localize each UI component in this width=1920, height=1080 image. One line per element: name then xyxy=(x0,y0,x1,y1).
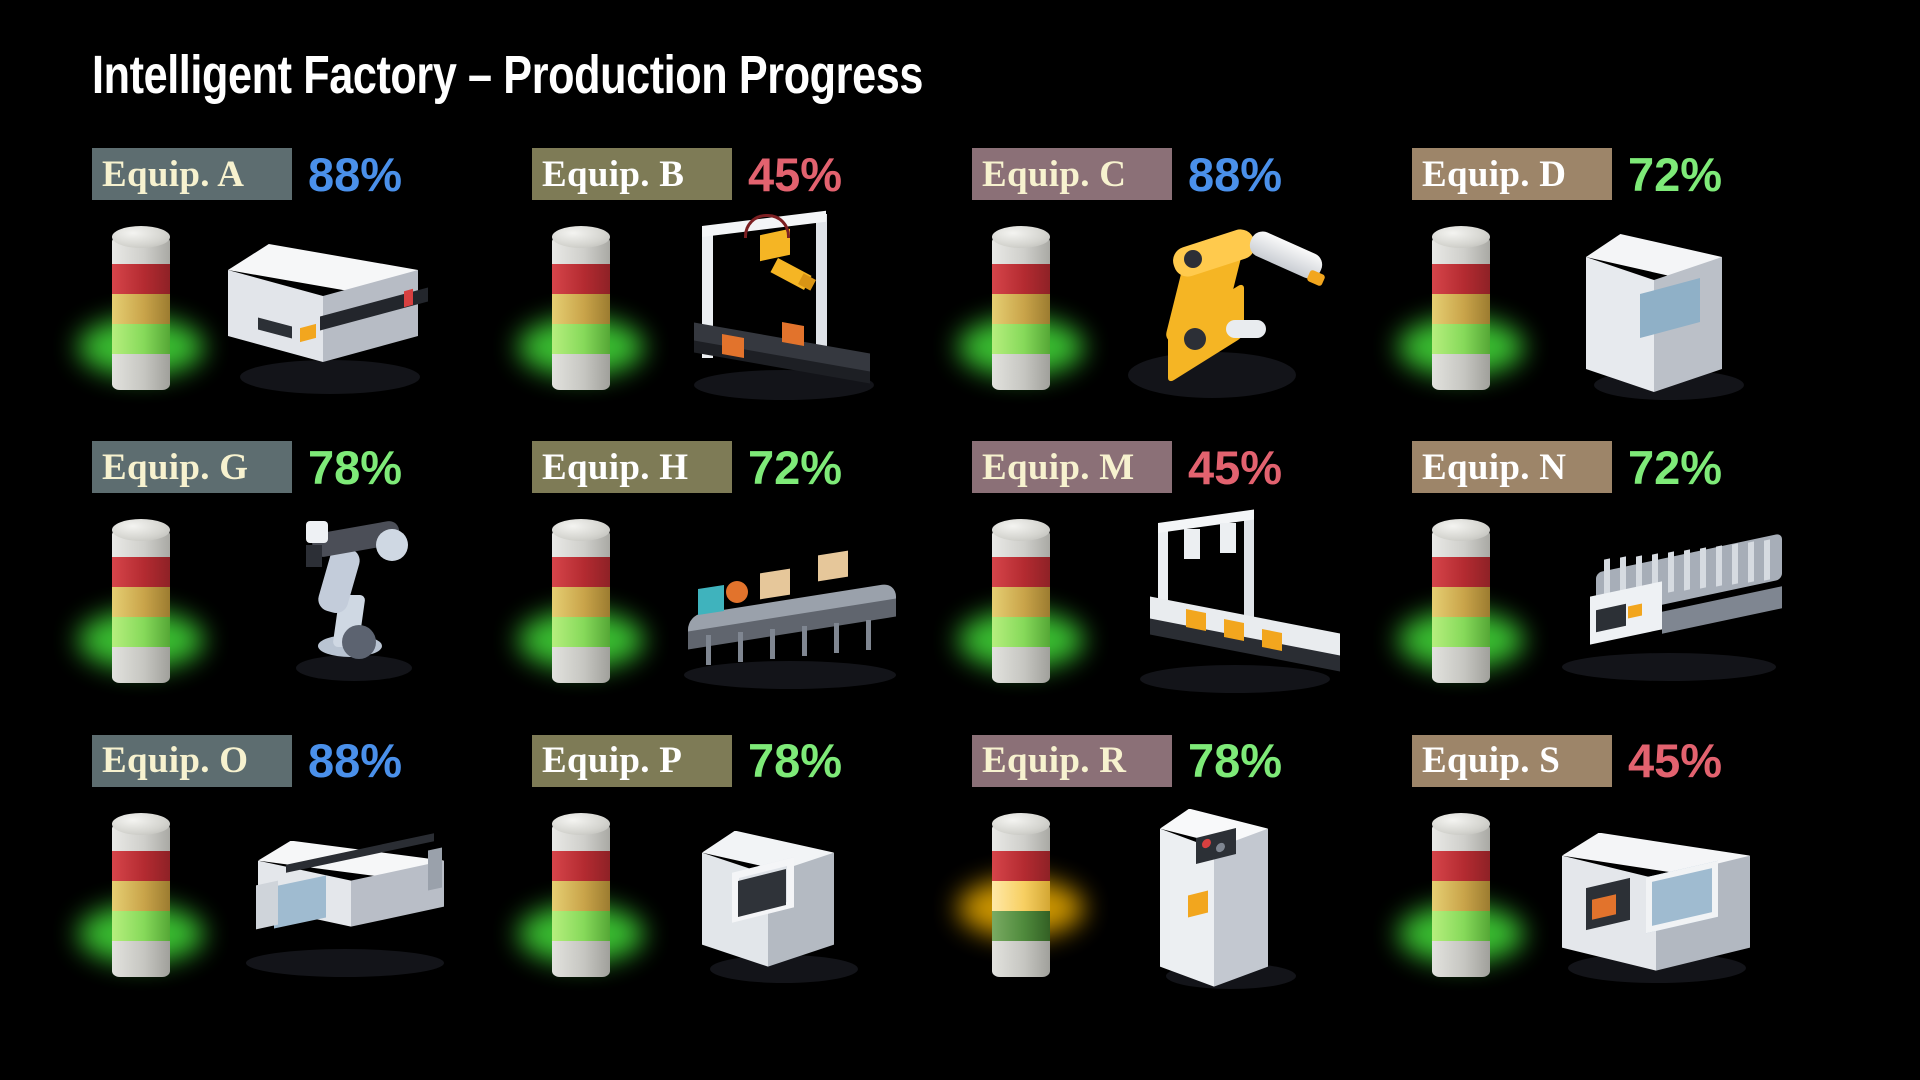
arm-joint xyxy=(376,529,408,561)
stack-light-segment-amber xyxy=(1432,587,1490,617)
equipment-card-equip-b[interactable]: Equip. B45% xyxy=(532,148,972,441)
stack-light-segment-green xyxy=(992,324,1050,354)
roller xyxy=(1764,540,1770,581)
stack-light-segment-red xyxy=(112,264,170,294)
equipment-illustration xyxy=(1412,210,1852,420)
machine-icon-gantry-pick-place xyxy=(640,210,920,416)
equipment-illustration xyxy=(972,210,1412,420)
progress-percent: 45% xyxy=(1628,737,1722,784)
stack-light-tower-icon xyxy=(984,226,1058,398)
card-header: Equip. C88% xyxy=(972,148,1412,200)
machine-shadow xyxy=(1128,352,1296,398)
stack-light-segment-red xyxy=(1432,851,1490,881)
equipment-illustration xyxy=(532,797,972,1007)
actuator-end-cap xyxy=(256,880,278,929)
conveyor-leg xyxy=(834,623,839,653)
box-carton-2 xyxy=(818,551,848,582)
card-header: Equip. A88% xyxy=(92,148,532,200)
stack-light-segment-red xyxy=(112,557,170,587)
stack-light-body xyxy=(1432,236,1490,390)
machine-icon-gantry-conveyor xyxy=(1080,503,1360,709)
equipment-card-equip-s[interactable]: Equip. S45% xyxy=(1412,735,1852,1028)
machine-shadow xyxy=(684,661,896,689)
equipment-name-band[interactable]: Equip. D xyxy=(1412,148,1612,200)
stack-light-segment-amber xyxy=(112,587,170,617)
stack-light-tower-icon xyxy=(104,226,178,398)
stack-light-tower-icon xyxy=(1424,226,1498,398)
stack-light-segment-base xyxy=(1432,941,1490,977)
stack-light-cap xyxy=(112,813,170,835)
stack-light-segment-base xyxy=(1432,354,1490,390)
stack-light-segment-red xyxy=(992,264,1050,294)
roller xyxy=(1684,549,1690,590)
progress-percent: 45% xyxy=(1188,444,1282,491)
stack-light-segment-green xyxy=(112,324,170,354)
stack-light-segment-red xyxy=(552,264,610,294)
stack-light-segment-red xyxy=(1432,557,1490,587)
stack-light-body xyxy=(992,236,1050,390)
stack-light-segment-green xyxy=(552,324,610,354)
progress-percent: 78% xyxy=(1188,737,1282,784)
conveyor-leg xyxy=(866,620,871,650)
equipment-name-band[interactable]: Equip. C xyxy=(972,148,1172,200)
equipment-card-equip-c[interactable]: Equip. C88% xyxy=(972,148,1412,441)
conveyor-leg xyxy=(706,635,711,665)
stack-light-tower-icon xyxy=(104,519,178,691)
machine-icon-robot-arm xyxy=(1080,210,1360,416)
equipment-card-equip-p[interactable]: Equip. P78% xyxy=(532,735,972,1028)
card-header: Equip. S45% xyxy=(1412,735,1852,787)
conveyor-leg xyxy=(738,632,743,662)
stack-light-segment-base xyxy=(552,941,610,977)
stack-light-cap xyxy=(1432,226,1490,248)
stack-light-segment-red xyxy=(112,851,170,881)
equipment-illustration xyxy=(972,503,1412,713)
equipment-illustration xyxy=(92,503,532,713)
machine-icon-linear-actuator xyxy=(200,797,480,1003)
conveyor-leg xyxy=(770,629,775,659)
equipment-name-band[interactable]: Equip. G xyxy=(92,441,292,493)
stack-light-cap xyxy=(112,226,170,248)
machine-icon-conveyor-boxes xyxy=(640,503,920,709)
box-part-2 xyxy=(782,322,804,346)
progress-percent: 88% xyxy=(308,151,402,198)
card-header: Equip. H72% xyxy=(532,441,972,493)
equipment-card-equip-h[interactable]: Equip. H72% xyxy=(532,441,972,734)
equipment-illustration xyxy=(92,210,532,420)
stack-light-segment-amber xyxy=(992,587,1050,617)
equipment-name-band[interactable]: Equip. B xyxy=(532,148,732,200)
stack-light-segment-amber xyxy=(1432,881,1490,911)
equipment-grid: Equip. A88%Equip. B45%Equip. C88%Equip. … xyxy=(92,148,1852,1028)
equipment-name-band[interactable]: Equip. S xyxy=(1412,735,1612,787)
progress-percent: 78% xyxy=(748,737,842,784)
stack-light-body xyxy=(112,529,170,683)
stack-light-tower-icon xyxy=(544,226,618,398)
card-header: Equip. R78% xyxy=(972,735,1412,787)
card-header: Equip. G78% xyxy=(92,441,532,493)
stack-light-body xyxy=(1432,823,1490,977)
roller xyxy=(1748,542,1754,583)
stack-light-segment-amber xyxy=(992,294,1050,324)
stack-light-segment-green xyxy=(112,617,170,647)
card-header: Equip. P78% xyxy=(532,735,972,787)
gc-slide-2 xyxy=(1220,523,1236,553)
stack-light-segment-base xyxy=(992,354,1050,390)
robot-joint-1 xyxy=(1184,250,1202,268)
equipment-card-equip-n[interactable]: Equip. N72% xyxy=(1412,441,1852,734)
equipment-illustration xyxy=(92,797,532,1007)
stack-light-segment-base xyxy=(552,647,610,683)
gc-slide-1 xyxy=(1184,529,1200,559)
conveyor-leg xyxy=(802,626,807,656)
stack-light-tower-icon xyxy=(104,813,178,985)
stack-light-segment-red xyxy=(552,851,610,881)
actuator-rail-end xyxy=(428,847,442,890)
stack-light-tower-icon xyxy=(544,519,618,691)
card-header: Equip. N72% xyxy=(1412,441,1852,493)
box-carton-1 xyxy=(760,569,790,600)
robot-joint-2 xyxy=(1184,328,1206,350)
equipment-name-band[interactable]: Equip. H xyxy=(532,441,732,493)
stack-light-segment-green xyxy=(992,617,1050,647)
stack-light-segment-base xyxy=(112,354,170,390)
stack-light-segment-base xyxy=(992,647,1050,683)
equipment-illustration xyxy=(972,797,1412,1007)
stack-light-segment-amber xyxy=(552,881,610,911)
stack-light-body xyxy=(992,529,1050,683)
stack-light-cap xyxy=(552,226,610,248)
stack-light-segment-green xyxy=(552,617,610,647)
box-teal xyxy=(698,585,724,615)
stack-light-body xyxy=(992,823,1050,977)
progress-percent: 72% xyxy=(1628,151,1722,198)
stack-light-segment-amber xyxy=(1432,294,1490,324)
roller xyxy=(1732,543,1738,584)
progress-percent: 88% xyxy=(1188,151,1282,198)
machine-icon-control-cabinet-tall xyxy=(1080,797,1360,1003)
card-header: Equip. D72% xyxy=(1412,148,1852,200)
stack-light-tower-icon xyxy=(1424,813,1498,985)
machine-icon-control-cabinet xyxy=(1520,210,1800,416)
arm-gripper xyxy=(306,521,328,543)
equipment-illustration xyxy=(532,503,972,713)
machine-shadow xyxy=(246,949,444,977)
progress-percent: 88% xyxy=(308,737,402,784)
stack-light-segment-green xyxy=(992,911,1050,941)
card-header: Equip. O88% xyxy=(92,735,532,787)
equipment-name-band[interactable]: Equip. P xyxy=(532,735,732,787)
box-orange-round xyxy=(726,581,748,603)
stack-light-body xyxy=(112,236,170,390)
stack-light-segment-amber xyxy=(552,587,610,617)
equipment-name-band[interactable]: Equip. M xyxy=(972,441,1172,493)
equipment-name-band[interactable]: Equip. A xyxy=(92,148,292,200)
stack-light-segment-red xyxy=(992,557,1050,587)
stack-light-body xyxy=(112,823,170,977)
machine-icon-inspection-station xyxy=(640,797,920,1003)
stack-light-segment-red xyxy=(1432,264,1490,294)
equipment-name-band[interactable]: Equip. O xyxy=(92,735,292,787)
stack-light-segment-green xyxy=(1432,911,1490,941)
stack-light-body xyxy=(552,823,610,977)
cnc-enclosure-body xyxy=(228,244,470,362)
page-title: Intelligent Factory – Production Progres… xyxy=(92,44,923,106)
stack-light-cap xyxy=(1432,813,1490,835)
stack-light-segment-amber xyxy=(112,881,170,911)
box-part-1 xyxy=(722,334,744,358)
stack-light-segment-green xyxy=(1432,617,1490,647)
stack-light-segment-base xyxy=(112,941,170,977)
progress-percent: 45% xyxy=(748,151,842,198)
equipment-card-equip-m[interactable]: Equip. M45% xyxy=(972,441,1412,734)
equipment-card-equip-a[interactable]: Equip. A88% xyxy=(92,148,532,441)
stack-light-segment-red xyxy=(992,851,1050,881)
equipment-name-band[interactable]: Equip. R xyxy=(972,735,1172,787)
equipment-card-equip-g[interactable]: Equip. G78% xyxy=(92,441,532,734)
stack-light-segment-green xyxy=(552,911,610,941)
machine-shadow xyxy=(1562,653,1776,681)
gc-post-right xyxy=(1244,513,1254,621)
stack-light-body xyxy=(1432,529,1490,683)
stack-light-segment-base xyxy=(552,354,610,390)
stack-light-cap xyxy=(552,813,610,835)
roller xyxy=(1668,551,1674,592)
stack-light-tower-icon xyxy=(544,813,618,985)
stack-light-segment-amber xyxy=(552,294,610,324)
equipment-name-band[interactable]: Equip. N xyxy=(1412,441,1612,493)
machine-shadow xyxy=(240,360,420,394)
stack-light-segment-red xyxy=(552,557,610,587)
robot-axle xyxy=(1226,320,1266,338)
stack-light-segment-amber xyxy=(992,881,1050,911)
equipment-illustration xyxy=(1412,503,1852,713)
stack-light-segment-base xyxy=(992,941,1050,977)
roller xyxy=(1700,547,1706,588)
robot-tool xyxy=(1306,269,1325,286)
machine-icon-articulated-arm xyxy=(200,503,480,709)
machine-shadow xyxy=(296,655,412,681)
gantry-post-right xyxy=(816,214,827,350)
stack-light-segment-green xyxy=(112,911,170,941)
stack-light-tower-icon xyxy=(1424,519,1498,691)
progress-percent: 72% xyxy=(748,444,842,491)
stack-light-segment-base xyxy=(1432,647,1490,683)
tall-cabinet-handle xyxy=(1188,890,1208,917)
equipment-card-equip-o[interactable]: Equip. O88% xyxy=(92,735,532,1028)
stack-light-cap xyxy=(992,813,1050,835)
stack-light-body xyxy=(552,529,610,683)
card-header: Equip. B45% xyxy=(532,148,972,200)
stack-light-segment-green xyxy=(1432,324,1490,354)
roller xyxy=(1716,545,1722,586)
machine-icon-cnc-window xyxy=(1520,797,1800,1003)
cnc-indicator-red xyxy=(404,289,413,307)
card-header: Equip. M45% xyxy=(972,441,1412,493)
stack-light-cap xyxy=(992,226,1050,248)
progress-percent: 72% xyxy=(1628,444,1722,491)
machine-shadow xyxy=(1140,665,1330,693)
equipment-illustration xyxy=(532,210,972,420)
stack-light-segment-amber xyxy=(112,294,170,324)
gc-beam xyxy=(1158,510,1254,533)
equipment-card-equip-r[interactable]: Equip. R78% xyxy=(972,735,1412,1028)
machine-icon-roller-conveyor xyxy=(1520,503,1800,709)
machine-icon-cnc-enclosure xyxy=(200,210,480,416)
stack-light-body xyxy=(552,236,610,390)
arm-tool-tip xyxy=(306,545,322,567)
stack-light-segment-base xyxy=(112,647,170,683)
stack-light-tower-icon xyxy=(984,813,1058,985)
stack-light-tower-icon xyxy=(984,519,1058,691)
equipment-card-equip-d[interactable]: Equip. D72% xyxy=(1412,148,1852,441)
equipment-illustration xyxy=(1412,797,1852,1007)
progress-percent: 78% xyxy=(308,444,402,491)
